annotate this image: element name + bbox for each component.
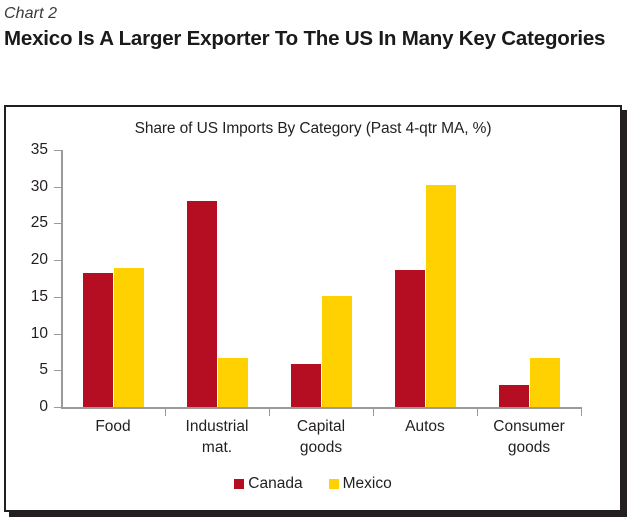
y-axis-tick [54, 150, 61, 151]
y-axis-tick-label: 15 [8, 288, 48, 306]
x-axis-tick [269, 409, 270, 416]
y-axis-tick-label: 0 [8, 398, 48, 416]
chart-panel: Share of US Imports By Category (Past 4-… [4, 105, 622, 512]
legend-swatch-icon [329, 479, 339, 489]
y-axis-tick-label: 5 [8, 361, 48, 379]
chart-page: Chart 2 Mexico Is A Larger Exporter To T… [0, 0, 630, 521]
legend-label: Mexico [343, 475, 392, 493]
y-axis-tick-label: 30 [8, 178, 48, 196]
legend: CanadaMexico [6, 475, 620, 493]
bar-group [499, 150, 560, 407]
x-axis-tick-label-line: Consumer [477, 417, 581, 438]
y-axis-tick [54, 223, 61, 224]
x-axis-tick-label-line: Capital [269, 417, 373, 438]
bar-mexico [322, 296, 352, 407]
bar-canada [187, 201, 217, 407]
x-axis-tick-label: Autos [373, 417, 477, 438]
y-axis-tick [54, 297, 61, 298]
legend-item-canada[interactable]: Canada [234, 475, 302, 493]
y-axis-tick [54, 187, 61, 188]
y-axis-tick [54, 370, 61, 371]
bar-group [187, 150, 248, 407]
x-axis-tick-label: Industrialmat. [165, 417, 269, 458]
bar-mexico [114, 268, 144, 407]
legend-item-mexico[interactable]: Mexico [329, 475, 392, 493]
x-axis-tick-label-line: Food [61, 417, 165, 438]
bar-canada [395, 270, 425, 407]
x-axis-tick [581, 409, 582, 416]
bar-mexico [426, 185, 456, 407]
x-axis-line [61, 407, 582, 409]
bar-canada [499, 385, 529, 407]
x-axis-tick-label: Capitalgoods [269, 417, 373, 458]
x-axis-tick-label-line: Industrial [165, 417, 269, 438]
x-axis-tick-label-line: goods [477, 438, 581, 459]
y-axis-tick-label: 10 [8, 325, 48, 343]
chart-subtitle: Share of US Imports By Category (Past 4-… [6, 120, 620, 138]
x-axis-tick [477, 409, 478, 416]
x-axis-tick-label-line: goods [269, 438, 373, 459]
plot-area [61, 150, 581, 407]
x-axis-tick-label-line: Autos [373, 417, 477, 438]
bar-group [395, 150, 456, 407]
page-title: Mexico Is A Larger Exporter To The US In… [4, 26, 616, 53]
x-axis-tick [165, 409, 166, 416]
x-axis-tick-label-line: mat. [165, 438, 269, 459]
y-axis-tick [54, 260, 61, 261]
y-axis-tick [54, 407, 61, 408]
legend-label: Canada [248, 475, 302, 493]
legend-swatch-icon [234, 479, 244, 489]
bar-mexico [218, 358, 248, 407]
y-axis-tick-label: 35 [8, 141, 48, 159]
bar-canada [83, 273, 113, 407]
x-axis-tick-label: Consumergoods [477, 417, 581, 458]
y-axis-tick [54, 334, 61, 335]
x-axis-tick-label: Food [61, 417, 165, 438]
x-axis-tick [373, 409, 374, 416]
y-axis-tick-label: 25 [8, 214, 48, 232]
chart-number-label: Chart 2 [4, 5, 57, 23]
bar-canada [291, 364, 321, 407]
bar-group [291, 150, 352, 407]
bar-group [83, 150, 144, 407]
y-axis-tick-label: 20 [8, 251, 48, 269]
bar-mexico [530, 358, 560, 407]
